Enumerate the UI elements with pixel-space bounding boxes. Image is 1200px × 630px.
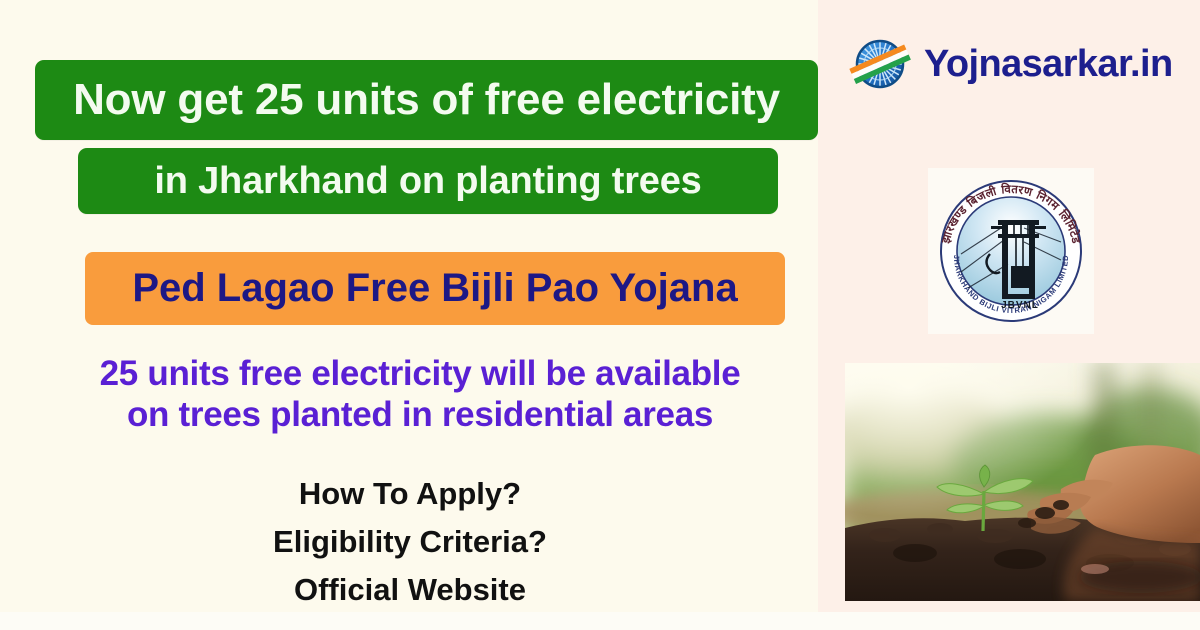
question-how-to-apply: How To Apply? (10, 470, 810, 518)
poster: Now get 25 units of free electricity in … (0, 0, 1200, 630)
scheme-name-badge: Ped Lagao Free Bijli Pao Yojana (85, 252, 785, 325)
subheading-line-1: 25 units free electricity will be availa… (10, 354, 830, 395)
ashoka-chakra-tricolor-icon (848, 32, 912, 96)
question-eligibility-criteria: Eligibility Criteria? (10, 518, 810, 566)
subheading-line-2: on trees planted in residential areas (10, 395, 830, 436)
brand-name: Yojnasarkar.in (924, 43, 1173, 86)
question-official-website: Official Website (10, 566, 810, 614)
headline-line-2: in Jharkhand on planting trees (78, 148, 778, 214)
svg-text:JBVNL: JBVNL (1001, 300, 1039, 311)
jbvnl-seal-icon: झारखण्ड बिजली वितरण निगम लिमिटेड JHARKHA… (928, 168, 1094, 334)
hand-planting-seedling-photo (845, 363, 1200, 601)
headline-line-1: Now get 25 units of free electricity (35, 60, 818, 140)
site-brand[interactable]: Yojnasarkar.in (848, 28, 1188, 100)
subheading: 25 units free electricity will be availa… (10, 354, 830, 435)
question-list: How To Apply? Eligibility Criteria? Offi… (10, 470, 810, 614)
background-bottom-strip (0, 612, 1200, 630)
